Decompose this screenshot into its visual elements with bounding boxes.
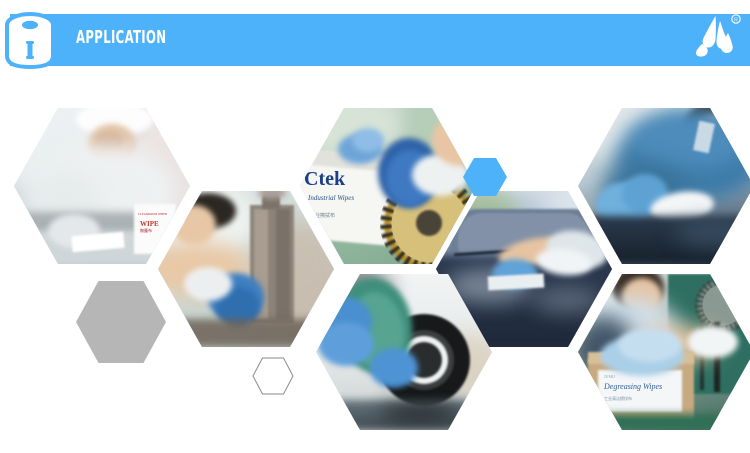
company-trademark-logo: R: [694, 12, 742, 58]
hex-tile-gray-accent: [76, 281, 166, 363]
ctek-box-line: Industrial Wipes: [308, 194, 354, 202]
hex-tile-degreasing-wipes-box[interactable]: Degreasing Wipes JUMO 工业清洁擦拭布: [578, 274, 750, 430]
hex-tile-electronics-assembly[interactable]: [578, 108, 750, 264]
hex-tile-cleanroom-worker[interactable]: CLEANROOM WIPER WIPE 無塵布: [14, 108, 190, 264]
hex-tile-sewing-machine[interactable]: [158, 191, 334, 347]
ctek-box-brand: Ctek: [304, 168, 345, 191]
registered-mark-icon: R: [732, 15, 740, 24]
hex-tile-outline-accent: [252, 357, 294, 395]
degreasing-box-line: Degreasing Wipes: [604, 382, 662, 391]
application-hexagon-gallery: CLEANROOM WIPER WIPE 無塵布: [0, 66, 750, 453]
page-title: APPLICATION: [76, 27, 166, 49]
paper-roll-icon: [4, 8, 62, 72]
svg-text:R: R: [734, 17, 738, 23]
hex-tile-ctek-box-gearwheel[interactable]: Ctek Industrial Wipes 工业擦拭布: [300, 108, 476, 264]
